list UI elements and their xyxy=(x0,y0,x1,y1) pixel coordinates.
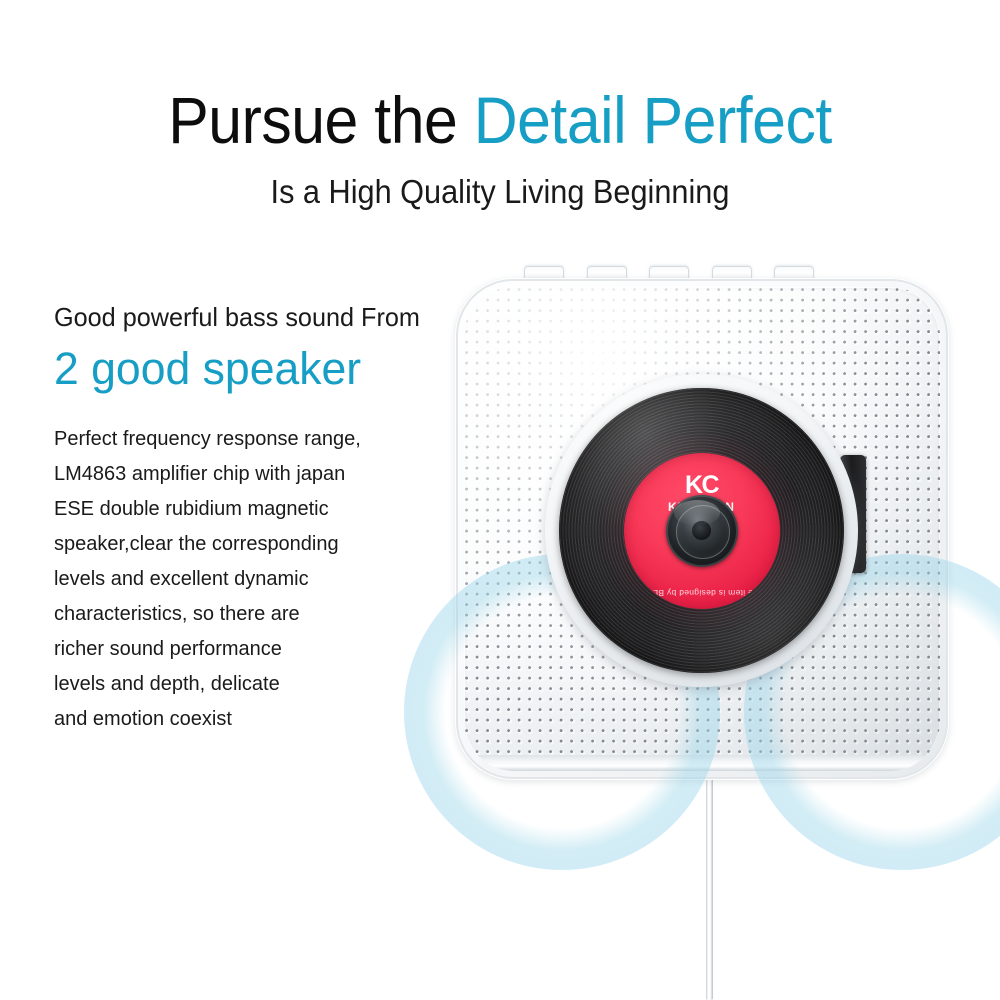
control-button-row xyxy=(524,266,814,282)
brand-name-text: KUSTRON xyxy=(624,501,780,514)
speaker-grille-panel xyxy=(464,287,940,771)
disc-bezel-ring xyxy=(545,374,858,687)
grille-highlight xyxy=(464,287,940,771)
feature-body-paragraph: Perfect frequency response range, LM4863… xyxy=(54,422,444,737)
spindle-gloss xyxy=(674,500,720,526)
feature-body-line: LM4863 amplifier chip with japan xyxy=(54,457,444,492)
feature-body-line: ESE double rubidium magnetic xyxy=(54,492,444,527)
control-button-4[interactable] xyxy=(712,266,752,281)
control-button-5[interactable] xyxy=(774,266,814,281)
device-bottom-lip xyxy=(464,755,940,771)
feature-body-line: levels and excellent dynamic xyxy=(54,562,444,597)
feature-lead-text: Good powerful bass sound From xyxy=(54,300,432,334)
feature-body-line: characteristics, so there are xyxy=(54,597,444,632)
headline-accent: Detail Perfect xyxy=(474,83,832,157)
sound-halo-left xyxy=(404,554,720,870)
perforated-grille-pattern xyxy=(464,287,940,771)
page-subheadline: Is a High Quality Living Beginning xyxy=(35,172,965,212)
feature-body-line: levels and depth, delicate xyxy=(54,667,444,702)
headline-lead: Pursue the xyxy=(168,83,473,157)
vinyl-disc: KC KUSTRON The item is designed by BLCE xyxy=(545,374,858,687)
control-button-1[interactable] xyxy=(524,266,564,281)
disc-label-arc-text: The item is designed by BLCE xyxy=(624,588,780,598)
page-headline: Pursue the Detail Perfect xyxy=(40,84,960,156)
disc-clamp xyxy=(840,455,866,573)
disc-surface: KC KUSTRON The item is designed by BLCE xyxy=(559,388,844,673)
feature-body-line: speaker,clear the corresponding xyxy=(54,527,444,562)
power-cord xyxy=(706,770,713,1000)
control-button-2[interactable] xyxy=(587,266,627,281)
feature-body-line: and emotion coexist xyxy=(54,702,444,737)
spindle-ring xyxy=(676,505,730,559)
disc-sheen xyxy=(559,388,844,673)
cd-player-body xyxy=(455,278,949,780)
disc-grooves xyxy=(559,388,844,673)
disc-label: KC KUSTRON The item is designed by BLCE xyxy=(624,453,780,609)
sound-halo-right xyxy=(744,554,1000,870)
feature-copy-block: Good powerful bass sound From 2 good spe… xyxy=(54,300,444,737)
feature-emphasis-text: 2 good speaker xyxy=(54,342,440,396)
feature-body-line: Perfect frequency response range, xyxy=(54,422,444,457)
spindle-hole xyxy=(692,521,711,540)
disc-spindle xyxy=(666,495,738,567)
brand-logo-kc: KC xyxy=(624,473,780,498)
control-button-3[interactable] xyxy=(649,266,689,281)
feature-body-line: richer sound performance xyxy=(54,632,444,667)
